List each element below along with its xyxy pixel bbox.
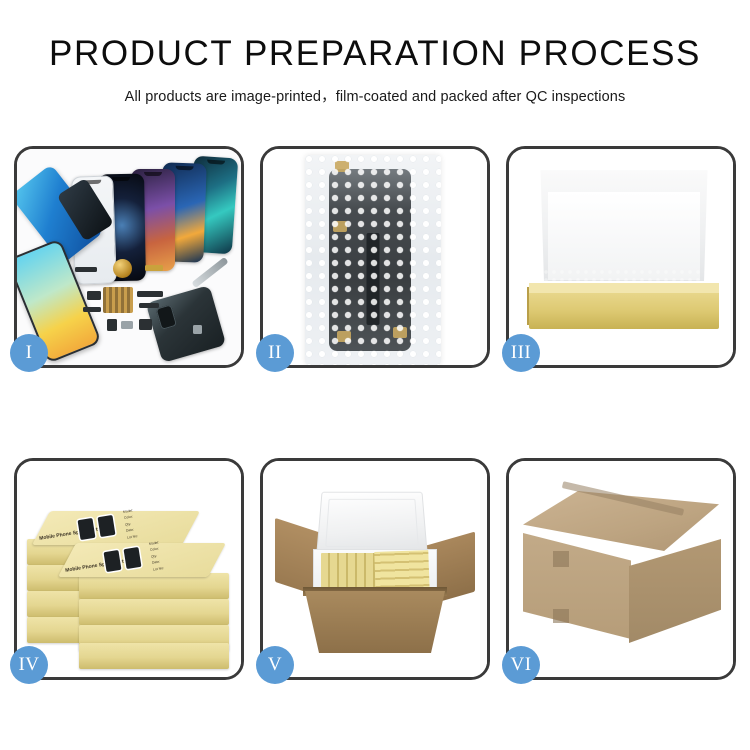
process-step-4[interactable]: Mobile Phone Spare Parts Model: Color: Q… (14, 458, 244, 680)
process-step-5[interactable]: V (260, 458, 490, 680)
spare-part (83, 307, 101, 312)
process-step-1[interactable]: I (14, 146, 244, 368)
carton-tape (553, 609, 569, 623)
step-badge-3: III (502, 334, 540, 372)
stacked-box (79, 643, 229, 669)
box-window (124, 547, 142, 569)
tape-piece (333, 221, 347, 232)
step-badge-4: IV (10, 646, 48, 684)
stacked-box-lid (58, 543, 226, 577)
step-5-image (263, 461, 487, 677)
step-badge-6: VI (502, 646, 540, 684)
process-step-2[interactable]: II (260, 146, 490, 368)
spare-part (139, 319, 152, 330)
tape-piece (337, 331, 351, 342)
step-badge-5: V (256, 646, 294, 684)
tape-piece (335, 161, 349, 172)
step-3-image (509, 149, 733, 365)
stacked-box (79, 599, 229, 625)
spare-part (107, 319, 117, 331)
box-stack: Mobile Phone Spare Parts Model: Color: Q… (27, 481, 237, 667)
spare-part (139, 303, 159, 308)
process-steps-grid: I II III (14, 146, 736, 680)
step-4-image: Mobile Phone Spare Parts Model: Color: Q… (17, 461, 241, 677)
screw-part (193, 325, 202, 334)
box-window (98, 515, 116, 537)
carton-tape (553, 551, 569, 567)
spare-part (87, 291, 101, 300)
process-step-3[interactable]: III (506, 146, 736, 368)
foam-lid (316, 492, 428, 556)
box-window (78, 518, 96, 540)
spare-part (75, 267, 97, 272)
coil-part-icon (113, 259, 132, 278)
process-step-6[interactable]: VI (506, 458, 736, 680)
flex-cable (367, 233, 380, 325)
step-badge-2: II (256, 334, 294, 372)
step-1-image (17, 149, 241, 365)
step-2-image (263, 149, 487, 365)
spare-part (121, 321, 133, 329)
page-header: PRODUCT PREPARATION PROCESS All products… (0, 0, 750, 106)
spare-part (145, 265, 163, 271)
carton-body (305, 591, 445, 653)
bubble-wrap-bag (305, 155, 441, 365)
foam-lid (537, 163, 711, 281)
box-window (104, 550, 122, 572)
chip-array-part (103, 287, 133, 313)
tape-piece (393, 327, 407, 338)
page-title: PRODUCT PREPARATION PROCESS (0, 36, 750, 71)
yellow-inner-box (529, 289, 719, 329)
step-badge-1: I (10, 334, 48, 372)
spare-part (137, 291, 163, 297)
stacked-box-lid (32, 511, 200, 545)
page-subtitle: All products are image-printed，film-coat… (0, 85, 750, 106)
step-6-image (509, 461, 733, 677)
